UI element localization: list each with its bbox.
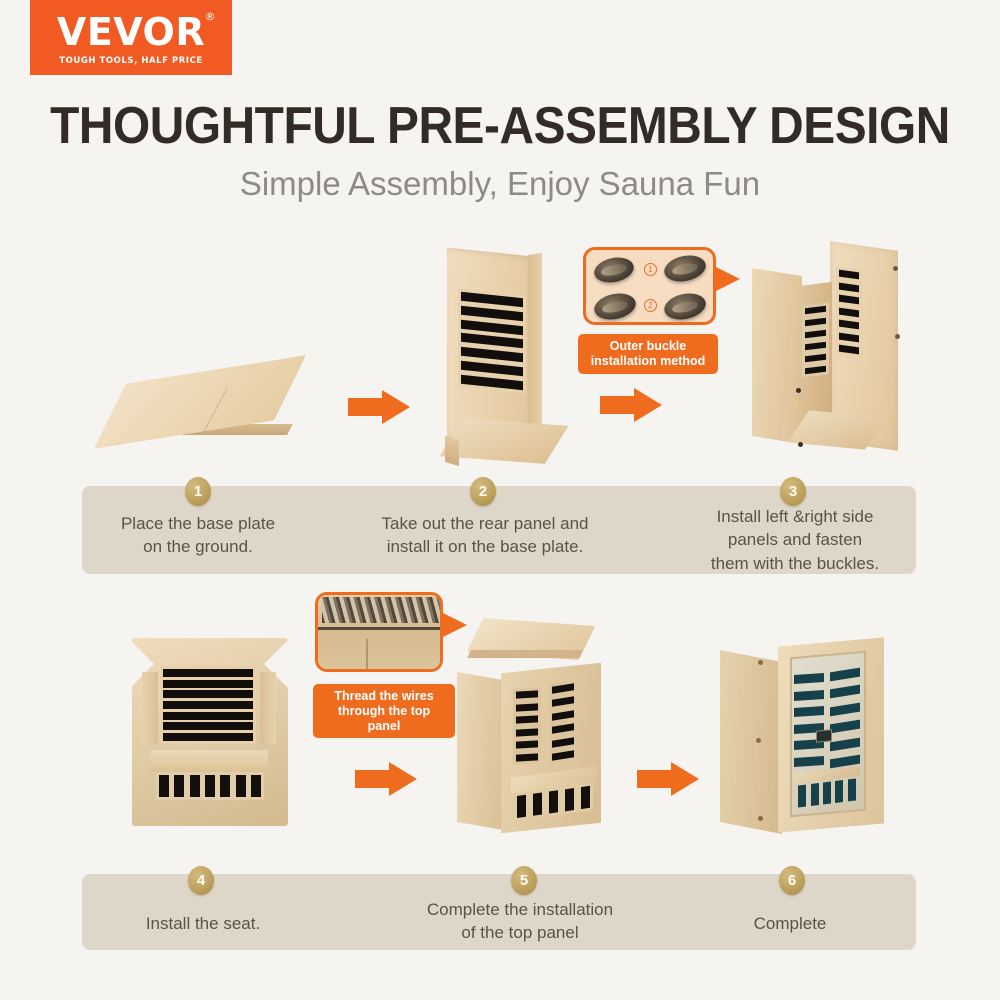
heater-slat — [830, 685, 860, 699]
heater-slat — [516, 703, 538, 711]
heater-slat — [830, 720, 860, 734]
panel-seam — [366, 639, 368, 672]
heater-slat — [805, 318, 826, 327]
cabin-left-wall — [720, 650, 782, 834]
interior-heater-left — [794, 673, 824, 767]
caption-line-2: on the ground. — [88, 535, 308, 558]
heater-slat — [552, 750, 574, 760]
arrow-head — [389, 762, 417, 796]
heater-slat — [794, 706, 824, 717]
heater-slat — [794, 673, 824, 684]
heater-slat — [805, 366, 826, 375]
registered-trademark-icon: ® — [205, 11, 217, 22]
rear-panel-right-return — [528, 253, 542, 441]
callout-outer-buckle-label: Outer buckle installation method — [578, 334, 718, 374]
heater-strip — [190, 775, 200, 797]
step-6-image — [720, 638, 890, 838]
buckle-marker-2: 2 — [644, 299, 657, 312]
arrow-shaft — [600, 396, 638, 414]
heater-slat — [552, 723, 574, 733]
heater-strip — [251, 775, 261, 797]
buckle-photo-4 — [662, 290, 708, 323]
caption-line-2: of the top panel — [400, 921, 640, 944]
caption-line-3: them with the buckles. — [675, 552, 915, 575]
caption-line-1: Complete the installation — [400, 898, 640, 921]
caption-line-2: install it on the base plate. — [345, 535, 625, 558]
arrow-step2-to-step3 — [600, 388, 662, 422]
callout-label-line-2: installation method — [586, 354, 710, 369]
heater-strip — [159, 775, 169, 797]
buckle-photo-3 — [592, 290, 638, 323]
heater-slat — [552, 697, 574, 707]
arrow-step5-to-step6 — [637, 762, 699, 796]
heater-slat — [839, 270, 859, 280]
heater-slat — [461, 306, 523, 322]
caption-line-1: Place the base plate — [88, 512, 308, 535]
heater-strip — [236, 775, 246, 797]
callout-thread-wires-label: Thread the wires through the top panel — [313, 684, 455, 738]
arrow-head — [382, 390, 410, 424]
interior-heater-right — [549, 680, 577, 764]
heater-slat — [461, 347, 523, 363]
heater-slat — [552, 683, 574, 693]
heater-slat — [163, 669, 253, 677]
heater-slat — [830, 737, 860, 751]
heater-strip — [848, 778, 856, 801]
control-panel — [816, 729, 832, 742]
callout-outer-buckle-tail — [714, 266, 740, 292]
sauna-seat — [150, 750, 268, 772]
heater-slat — [163, 680, 253, 688]
buckle-photo-1 — [592, 254, 636, 286]
heater-slat — [839, 345, 859, 355]
buckle-fastener — [758, 816, 763, 821]
arrow-head — [634, 388, 662, 422]
step-2-image — [425, 252, 570, 467]
heater-strip — [581, 786, 590, 809]
buckle-fastener — [895, 334, 900, 339]
heater-slat — [461, 333, 523, 349]
heater-strip — [533, 793, 542, 816]
page-subtitle: Simple Assembly, Enjoy Sauna Fun — [0, 165, 1000, 203]
caption-line-1: Install the seat. — [98, 912, 308, 935]
step-caption-1: Place the base plate on the ground. — [88, 512, 308, 559]
heater-slat — [163, 733, 253, 741]
caption-line-1: Install left &right side — [675, 505, 915, 528]
arrow-step1-to-step2 — [348, 390, 410, 424]
arrow-shaft — [348, 398, 386, 416]
heater-slat — [839, 332, 859, 342]
right-side-wall — [260, 672, 276, 744]
page-title: THOUGHTFUL PRE-ASSEMBLY DESIGN — [40, 96, 960, 156]
heater-slat — [805, 330, 826, 339]
buckle-fastener — [756, 738, 761, 743]
heater-slat — [461, 292, 523, 308]
heater-strip — [205, 775, 215, 797]
step-3-image — [752, 246, 927, 466]
brand-tagline: TOUGH TOOLS, HALF PRICE — [59, 56, 202, 66]
step-caption-4: Install the seat. — [98, 912, 308, 935]
heater-slat — [163, 690, 253, 698]
step-badge-2: 2 — [470, 477, 496, 506]
rear-heater-panel — [458, 288, 526, 393]
heater-strip — [220, 775, 230, 797]
buckle-photo-2 — [662, 252, 708, 285]
heater-slat — [839, 282, 859, 292]
heater-strip — [174, 775, 184, 797]
heater-slat — [805, 354, 826, 363]
heater-slat — [461, 319, 523, 335]
heater-slat — [163, 722, 253, 730]
heater-strip — [798, 785, 806, 808]
step-caption-6: Complete — [685, 912, 895, 935]
heater-slat — [839, 320, 859, 330]
caption-line-1: Complete — [685, 912, 895, 935]
arrow-shaft — [355, 770, 393, 788]
step-badge-3: 3 — [780, 477, 806, 506]
interior-heater-right — [830, 668, 860, 769]
step-caption-3: Install left &right side panels and fast… — [675, 505, 915, 575]
heater-slat — [516, 716, 538, 724]
heater-slat — [163, 712, 253, 720]
arrow-step4-to-step5 — [355, 762, 417, 796]
heater-slat — [552, 710, 574, 720]
step-badge-1: 1 — [185, 477, 211, 506]
step-caption-2: Take out the rear panel and install it o… — [345, 512, 625, 559]
rear-heater-panel — [160, 666, 256, 744]
heater-strip — [549, 790, 558, 813]
heater-slat — [163, 701, 253, 709]
callout-outer-buckle-photo: 1 2 — [583, 247, 716, 325]
heater-slat — [516, 741, 538, 749]
caption-line-1: Take out the rear panel and — [345, 512, 625, 535]
buckle-fastener — [798, 442, 803, 447]
heater-slat — [830, 702, 860, 716]
heater-slat — [839, 295, 859, 305]
under-seat-heater — [156, 772, 264, 800]
wire-bundle — [322, 597, 442, 623]
buckle-fastener — [796, 388, 801, 393]
buckle-marker-1: 1 — [644, 263, 657, 276]
arrow-head — [671, 762, 699, 796]
buckle-fastener — [893, 266, 898, 271]
left-side-panel — [752, 268, 802, 444]
heater-slat — [805, 306, 826, 315]
top-panel-edge — [467, 650, 583, 658]
heater-slat — [516, 753, 538, 761]
vevor-logo: VEVOR ® TOUGH TOOLS, HALF PRICE — [30, 0, 232, 75]
rear-heater-panel — [802, 302, 829, 377]
left-side-wall — [142, 672, 158, 744]
heater-strip — [517, 795, 526, 818]
callout-label-line-1: Thread the wires — [321, 689, 447, 704]
heater-slat — [516, 690, 538, 698]
step-5-image — [455, 620, 615, 840]
step-4-image — [128, 638, 293, 828]
heater-slat — [516, 728, 538, 736]
cabin-front-left-wall — [457, 672, 503, 830]
heater-slat — [461, 361, 523, 377]
heater-slat — [552, 737, 574, 747]
heater-strip — [811, 783, 819, 806]
right-panel-heater — [836, 266, 862, 358]
heater-strip — [565, 788, 574, 811]
step-badge-5: 5 — [511, 866, 537, 895]
heater-strip — [835, 780, 843, 803]
step-caption-5: Complete the installation of the top pan… — [400, 898, 640, 945]
heater-slat — [794, 690, 824, 701]
brand-wordmark: VEVOR ® — [57, 13, 205, 51]
step-1-image — [110, 372, 310, 452]
callout-label-line-2: through the top panel — [321, 704, 447, 734]
panel-groove — [318, 627, 443, 630]
base-plate-front-edge — [445, 436, 459, 466]
heater-slat — [805, 342, 826, 351]
caption-line-2: panels and fasten — [675, 528, 915, 551]
callout-label-line-1: Outer buckle — [586, 339, 710, 354]
callout-thread-wires-photo — [315, 592, 443, 672]
interior-heater-left — [513, 687, 541, 764]
arrow-shaft — [637, 770, 675, 788]
step-badge-4: 4 — [188, 866, 214, 895]
brand-name: VEVOR — [57, 10, 205, 54]
step-badge-6: 6 — [779, 866, 805, 895]
heater-strip — [823, 782, 831, 805]
buckle-fastener — [758, 660, 763, 665]
heater-slat — [839, 307, 859, 317]
